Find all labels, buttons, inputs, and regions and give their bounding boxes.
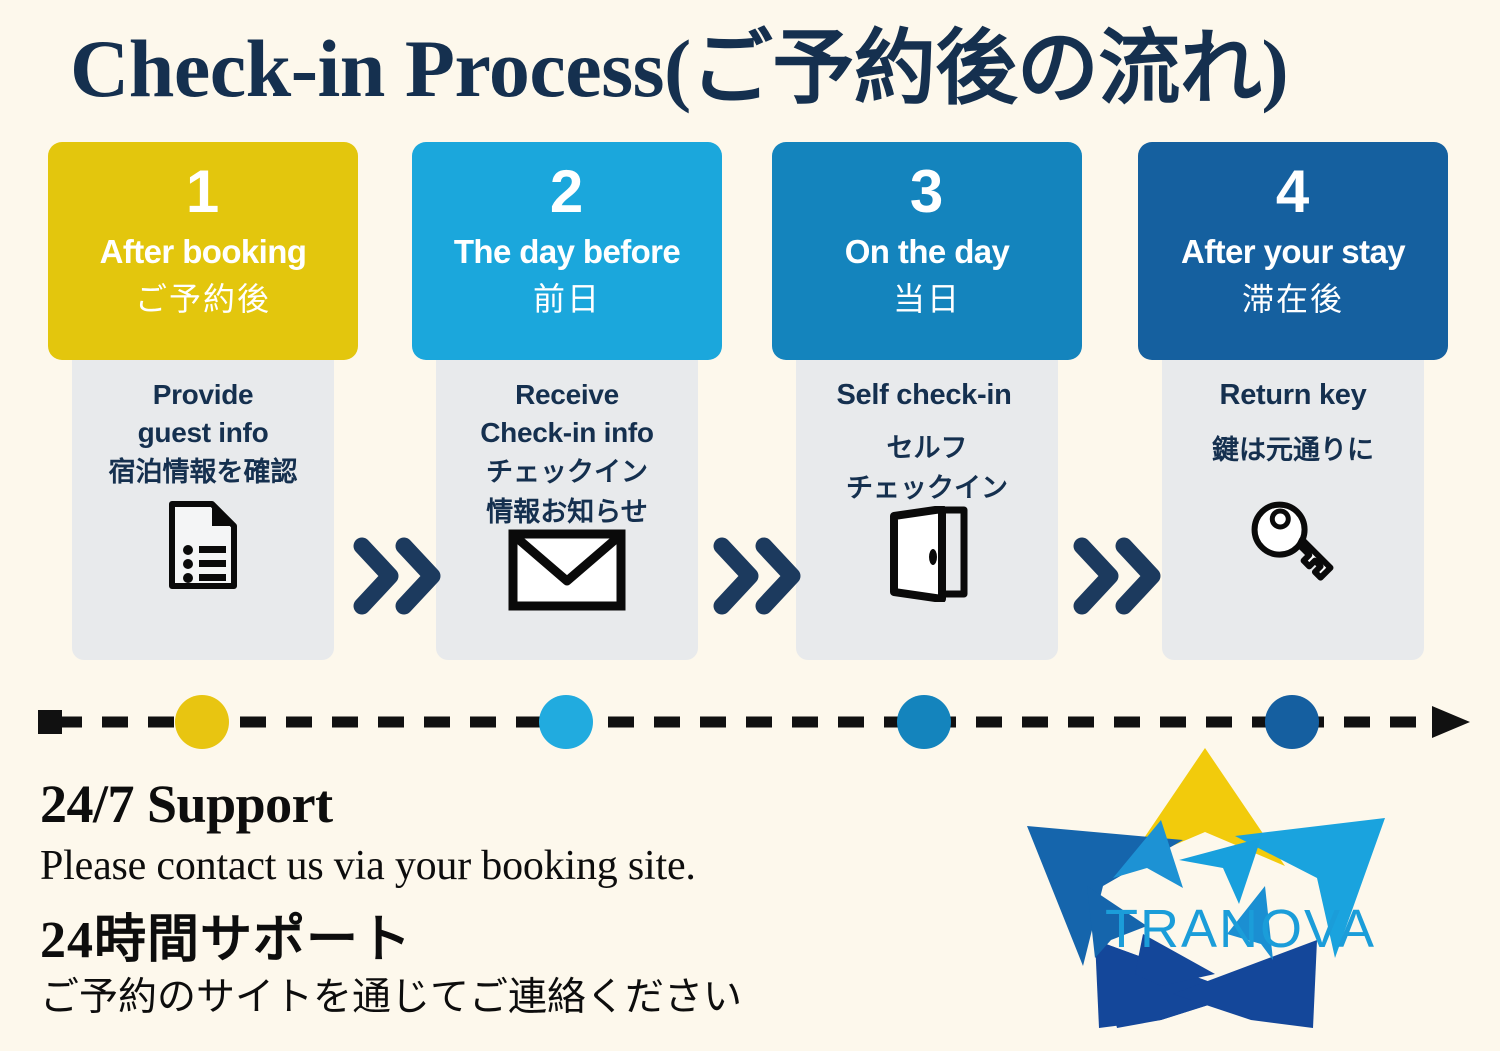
step-body-jp-line2-2: 情報お知らせ (436, 492, 698, 532)
timeline-dot-2 (539, 695, 593, 749)
step-header-3: 3 On the day 当日 (772, 142, 1082, 360)
step-body-jp-line1-4: 鍵は元通りに (1162, 430, 1424, 470)
step-header-4: 4 After your stay 滞在後 (1138, 142, 1448, 360)
logo-wordmark: TRANOVA (1105, 898, 1376, 960)
step-card-4[interactable]: 4 After your stay 滞在後 Return key 鍵は元通りに (1138, 142, 1448, 360)
step-body-jp-line2-3: チェックイン (796, 468, 1058, 508)
step-number-4: 4 (1138, 156, 1448, 228)
support-en-title: 24/7 Support (40, 772, 940, 836)
support-jp-text: ご予約のサイトを通じてご連絡ください (40, 972, 940, 1024)
timeline-dot-3 (897, 695, 951, 749)
open-door-icon (796, 510, 1058, 598)
step-body-en-line2-1: guest info (72, 414, 334, 452)
steps-row: 1 After booking ご予約後 Provide guest info … (0, 142, 1500, 670)
envelope-icon (436, 534, 698, 606)
step-body-en-line1-1: Provide (72, 376, 334, 414)
support-section: 24/7 Support Please contact us via your … (40, 772, 940, 1024)
step-body-jp-line1-2: チェックイン (436, 452, 698, 492)
timeline-dot-1 (175, 695, 229, 749)
step-header-1: 1 After booking ご予約後 (48, 142, 358, 360)
step-body-3: Self check-in セルフ チェックイン (796, 360, 1058, 660)
step-label-en-2: The day before (412, 228, 722, 276)
step-label-en-3: On the day (772, 228, 1082, 276)
step-number-3: 3 (772, 156, 1082, 228)
double-chevron-right-icon (712, 530, 804, 622)
step-body-4: Return key 鍵は元通りに (1162, 360, 1424, 660)
tranova-logo (965, 728, 1445, 1048)
step-card-3[interactable]: 3 On the day 当日 Self check-in セルフ チェックイン (772, 142, 1082, 360)
support-en-text: Please contact us via your booking site. (40, 838, 940, 894)
infographic-page: Check-in Process(ご予約後の流れ) 1 After bookin… (0, 0, 1500, 1051)
step-label-jp-3: 当日 (772, 276, 1082, 322)
step-label-jp-2: 前日 (412, 276, 722, 322)
document-list-icon (72, 498, 334, 594)
step-card-2[interactable]: 2 The day before 前日 Receive Check-in inf… (412, 142, 722, 360)
step-body-en-line1-4: Return key (1162, 376, 1424, 414)
step-body-jp-line1-1: 宿泊情報を確認 (72, 452, 334, 492)
step-body-en-line1-2: Receive (436, 376, 698, 414)
key-icon (1162, 488, 1424, 598)
step-header-2: 2 The day before 前日 (412, 142, 722, 360)
support-jp-title: 24時間サポート (40, 910, 940, 972)
step-label-en-4: After your stay (1138, 228, 1448, 276)
step-number-1: 1 (48, 156, 358, 228)
step-body-1: Provide guest info 宿泊情報を確認 (72, 360, 334, 660)
double-chevron-right-icon (1072, 530, 1164, 622)
step-card-1[interactable]: 1 After booking ご予約後 Provide guest info … (48, 142, 358, 360)
step-body-2: Receive Check-in info チェックイン 情報お知らせ (436, 360, 698, 660)
double-chevron-right-icon (352, 530, 444, 622)
step-label-en-1: After booking (48, 228, 358, 276)
page-title: Check-in Process(ご予約後の流れ) (70, 18, 1470, 120)
step-label-jp-4: 滞在後 (1138, 276, 1448, 322)
step-body-en-line1-3: Self check-in (790, 376, 1058, 414)
step-number-2: 2 (412, 156, 722, 228)
step-body-en-line2-2: Check-in info (436, 414, 698, 452)
step-label-jp-1: ご予約後 (48, 276, 358, 322)
step-body-jp-line1-3: セルフ (796, 428, 1058, 468)
logo-arrow-inner-tr (1179, 838, 1261, 904)
